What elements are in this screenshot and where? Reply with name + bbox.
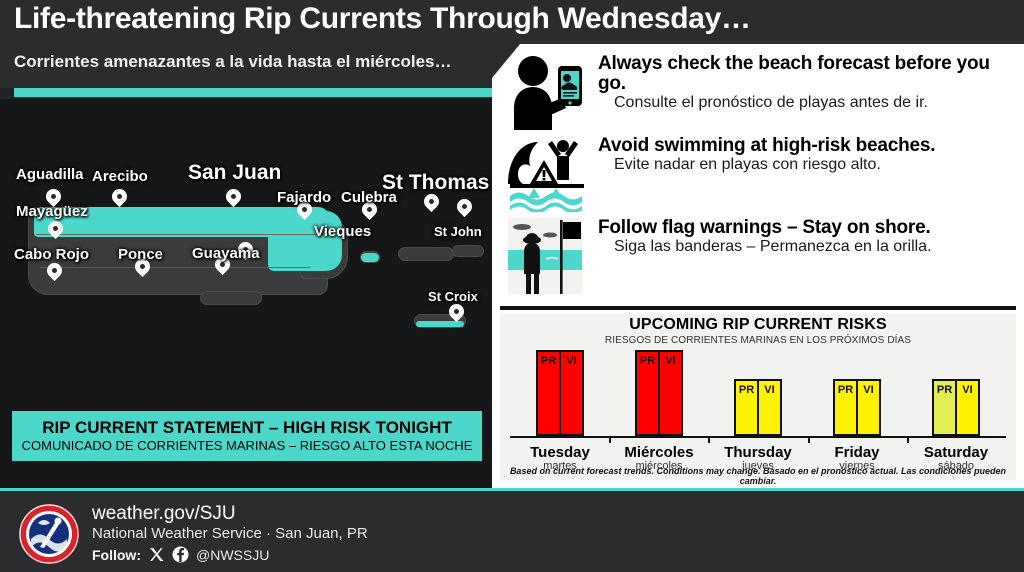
footer-follow-row: Follow: @NWSSJU: [92, 546, 269, 563]
safety-tip-spanish: Evite nadar en playas con riesgo alto.: [614, 156, 1016, 174]
chart-bar-vi: VI: [659, 350, 683, 436]
chart-axis-tick: [708, 436, 710, 443]
safety-tip-english: Always check the beach forecast before y…: [598, 54, 1016, 94]
map-pin-st-thomas[interactable]: [424, 194, 439, 214]
safety-tips-list: Always check the beach forecast before y…: [492, 44, 1024, 303]
chart-subtitle: RIESGOS DE CORRIENTES MARINAS EN LOS PRÓ…: [500, 335, 1016, 346]
chart-bar-vi: VI: [956, 379, 980, 436]
map-pin-st-john[interactable]: [457, 199, 472, 219]
map-pin-san-juan[interactable]: [226, 189, 241, 209]
safety-tip-english: Follow flag warnings – Stay on shore.: [598, 218, 1016, 238]
chart-axis-line: [510, 436, 1006, 438]
x-twitter-icon[interactable]: [148, 546, 165, 563]
map-label-mayaguez: Mayagüez: [16, 203, 88, 220]
rip-current-statement-banner: RIP CURRENT STATEMENT – HIGH RISK TONIGH…: [12, 411, 482, 461]
chart-bar-pr: PR: [932, 379, 956, 436]
chart-plot-area: PRVIPRVIPRVIPRVIPRVI: [510, 350, 1006, 436]
person-with-phone-icon: [506, 54, 588, 130]
nws-logo: [18, 503, 80, 565]
map-label-fajardo: Fajardo: [277, 189, 331, 206]
safety-tip-text: Always check the beach forecast before y…: [598, 54, 1016, 111]
map-label-cabo-rojo: Cabo Rojo: [14, 246, 89, 263]
chart-day-label-en: Friday: [802, 444, 912, 461]
chart-bar-pr: PR: [536, 350, 560, 436]
map-pin-st-croix[interactable]: [449, 304, 464, 324]
footer-follow-label: Follow:: [92, 547, 141, 563]
safety-tip-check-forecast: Always check the beach forecast before y…: [506, 54, 1016, 132]
accent-bar: [14, 88, 492, 97]
footer-bar: weather.gov/SJU National Weather Service…: [0, 488, 1024, 572]
statement-spanish: COMUNICADO DE CORRIENTES MARINAS – RIESG…: [22, 439, 473, 453]
safety-tip-follow-flags: Follow flag warnings – Stay on shore. Si…: [506, 218, 1016, 296]
chart-axis-tick: [609, 436, 611, 443]
chart-day-label-en: Tuesday: [505, 444, 615, 461]
map-pin-cabo-rojo[interactable]: [47, 263, 62, 283]
chart-axis-tick: [808, 436, 810, 443]
chart-bar-vi: VI: [857, 379, 881, 436]
chart-day-label-en: Thursday: [703, 444, 813, 461]
safety-tip-spanish: Consulte el pronóstico de playas antes d…: [614, 94, 1016, 112]
page-title: Life-threatening Rip Currents Through We…: [14, 2, 751, 36]
map-label-vieques: Vieques: [314, 223, 371, 240]
land-st-thomas: [398, 247, 454, 261]
safety-tip-text: Avoid swimming at high-risk beaches. Evi…: [598, 136, 1016, 173]
road-line-1: [36, 234, 326, 235]
safety-tip-spanish: Siga las banderas – Permanezca en la ori…: [614, 238, 1016, 256]
page-subtitle-spanish: Corrientes amenazantes a la vida hasta e…: [14, 52, 451, 72]
statement-english: RIP CURRENT STATEMENT – HIGH RISK TONIGH…: [42, 419, 452, 438]
land-vieques: [200, 291, 262, 305]
chart-disclaimer: Based on current forecast trends. Condit…: [500, 466, 1016, 486]
safety-tip-english: Avoid swimming at high-risk beaches.: [598, 136, 1016, 156]
panel-divider: [500, 306, 1016, 310]
safety-tips-panel: Always check the beach forecast before y…: [492, 44, 1024, 488]
beach-flag-warning-icon: [506, 218, 588, 294]
chart-day-label-en: Saturday: [901, 444, 1011, 461]
chart-bar-group: PRVI: [833, 379, 881, 436]
chart-bar-vi: VI: [758, 379, 782, 436]
weather-graphic: Life-threatening Rip Currents Through We…: [0, 0, 1024, 572]
chart-title: UPCOMING RIP CURRENT RISKS: [500, 316, 1016, 334]
chart-bar-pr: PR: [833, 379, 857, 436]
chart-bar-pr: PR: [635, 350, 659, 436]
footer-handle: @NWSSJU: [196, 547, 269, 563]
chart-bar-pr: PR: [734, 379, 758, 436]
map-label-guayama: Guayama: [192, 245, 260, 262]
map-label-st-thomas: St Thomas: [382, 171, 489, 195]
map-label-st-croix: St Croix: [428, 289, 478, 304]
map-label-aguadilla: Aguadilla: [16, 166, 84, 183]
coastal-highlight-culebra: [361, 253, 379, 262]
map-pin-arecibo[interactable]: [112, 189, 127, 209]
rip-current-risk-chart: UPCOMING RIP CURRENT RISKS RIESGOS DE CO…: [500, 314, 1016, 480]
map-pin-mayaguez[interactable]: [48, 221, 63, 241]
chart-bar-group: PRVI: [536, 350, 584, 436]
chart-day-label-en: Miércoles: [604, 444, 714, 461]
footer-url[interactable]: weather.gov/SJU: [92, 503, 236, 525]
footer-office: National Weather Service · San Juan, PR: [92, 525, 368, 542]
wave-warning-swimmer-icon: [506, 136, 588, 212]
chart-bar-vi: VI: [560, 350, 584, 436]
chart-bar-group: PRVI: [635, 350, 683, 436]
road-line-2: [40, 267, 310, 268]
safety-tip-avoid-swimming: Avoid swimming at high-risk beaches. Evi…: [506, 136, 1016, 214]
chart-axis-tick: [907, 436, 909, 443]
chart-bar-group: PRVI: [932, 379, 980, 436]
facebook-icon[interactable]: [172, 546, 189, 563]
land-st-john: [452, 245, 484, 257]
safety-tip-text: Follow flag warnings – Stay on shore. Si…: [598, 218, 1016, 255]
map-label-st-john: St John: [434, 224, 482, 239]
map-label-ponce: Ponce: [118, 246, 163, 263]
map-label-san-juan: San Juan: [188, 161, 281, 185]
chart-bar-group: PRVI: [734, 379, 782, 436]
map-label-arecibo: Arecibo: [92, 168, 148, 185]
